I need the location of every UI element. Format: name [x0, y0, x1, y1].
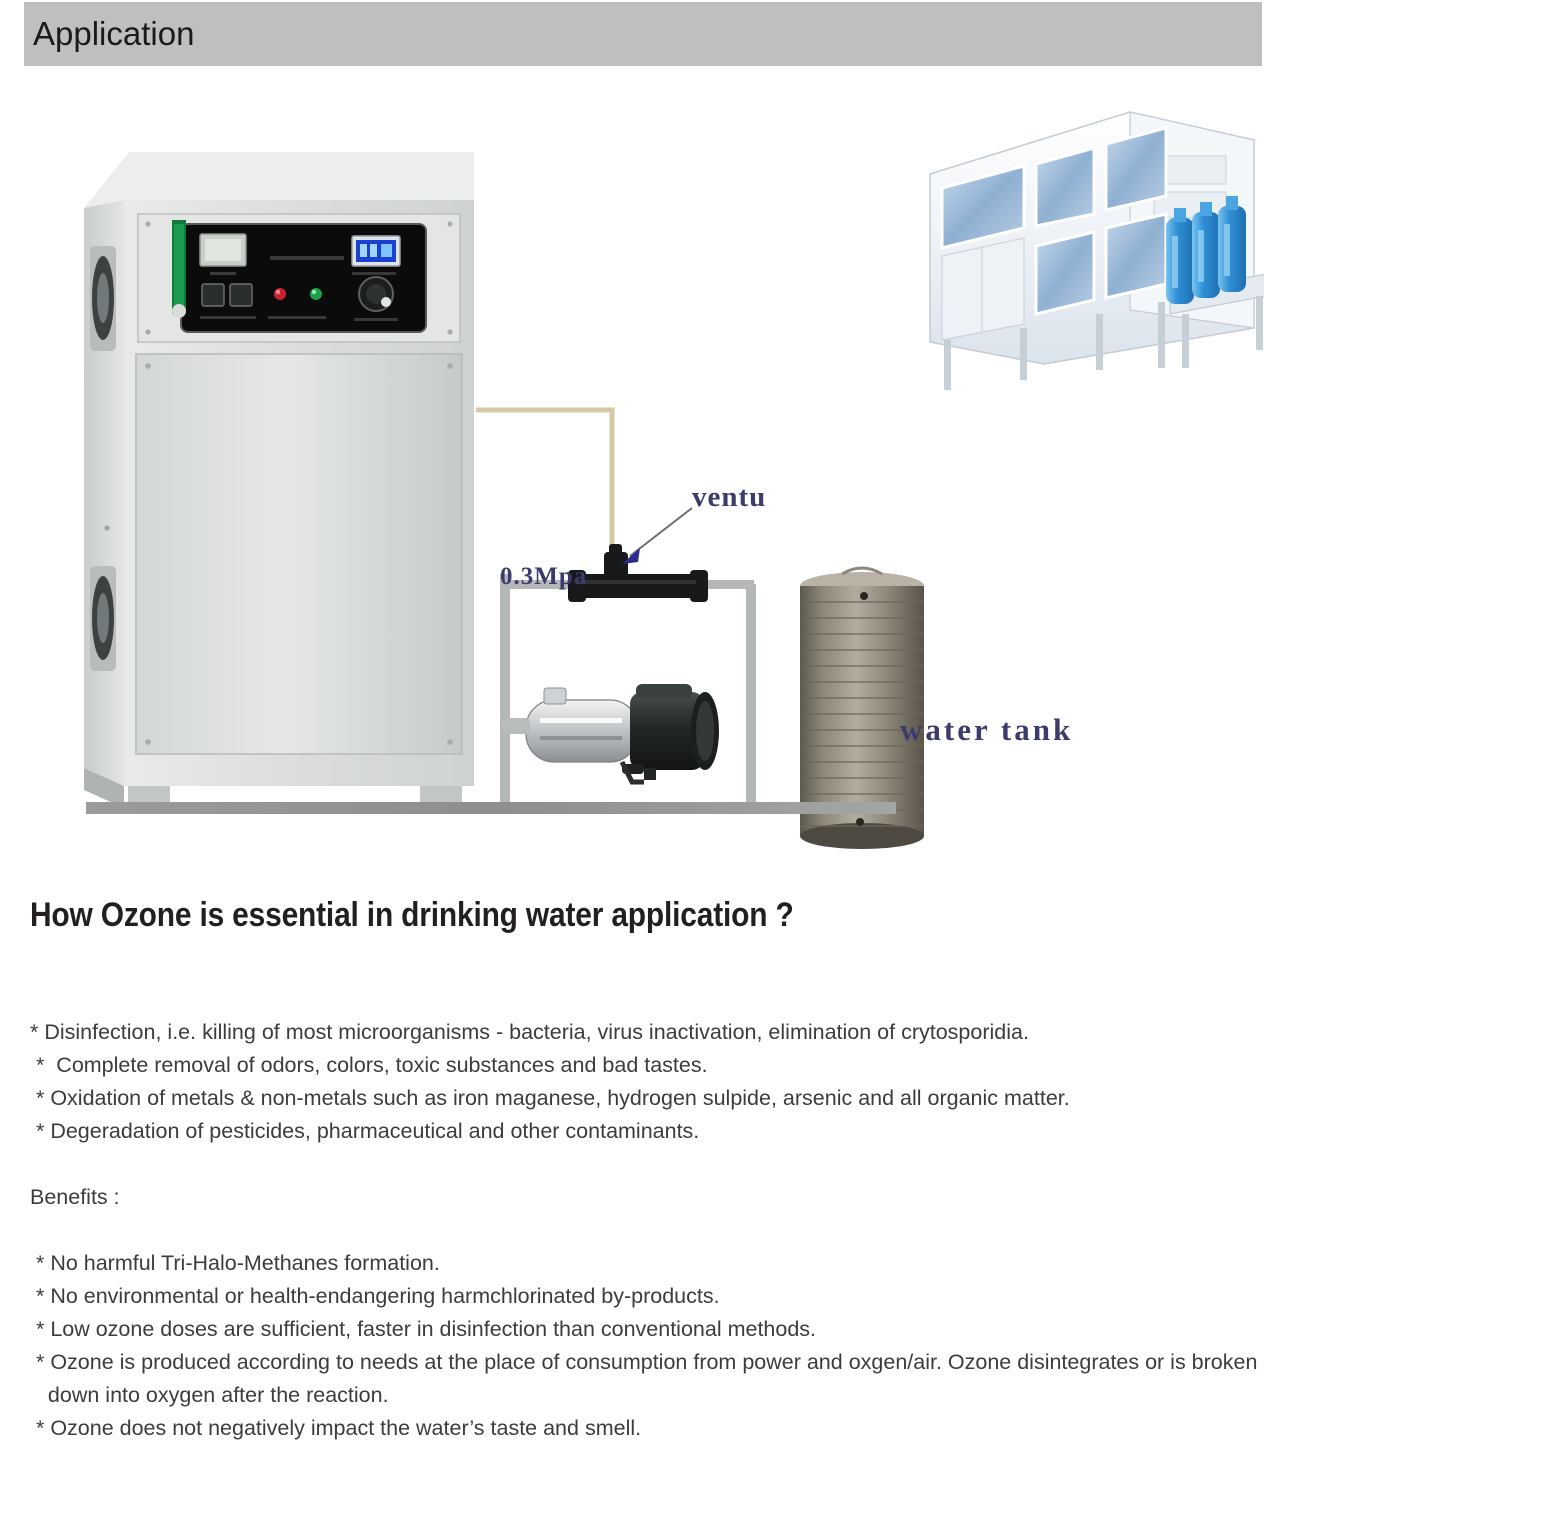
benefit-thm: * No harmful Tri-Halo-Methanes formation…	[30, 1247, 1330, 1280]
benefit-onsite: * Ozone is produced according to needs a…	[30, 1346, 1330, 1379]
benefits-label: Benefits :	[30, 1181, 1330, 1214]
benefit-taste: * Ozone does not negatively impact the w…	[30, 1412, 1330, 1445]
bullet-removal: * Complete removal of odors, colors, tox…	[30, 1049, 1330, 1082]
venturi-leader-line	[622, 508, 692, 564]
water-pump	[502, 684, 719, 782]
benefit-low-doses: * Low ozone doses are sufficient, faster…	[30, 1313, 1330, 1346]
spacer-2	[30, 1214, 1330, 1247]
control-panel	[172, 220, 426, 332]
ozone-generator-cabinet	[84, 152, 474, 808]
system-diagram-svg: 0.3Mpa ventu water tank	[24, 96, 1264, 876]
label-water-tank: water tank	[900, 712, 1073, 747]
page-header-bar: Application	[24, 2, 1262, 66]
spacer-1	[30, 1148, 1330, 1181]
label-venturi: ventu	[692, 481, 766, 513]
water-bottles	[1166, 196, 1246, 304]
label-pressure: 0.3Mpa	[500, 563, 587, 590]
page-title: Application	[24, 17, 194, 50]
body-copy: * Disinfection, i.e. killing of most mic…	[30, 1016, 1330, 1445]
section-heading: How Ozone is essential in drinking water…	[30, 896, 794, 935]
ozone-delivery-tube	[476, 410, 612, 568]
benefit-no-byproducts: * No environmental or health-endangering…	[30, 1280, 1330, 1313]
floor-line	[86, 802, 896, 814]
benefit-onsite-cont: down into oxygen after the reaction.	[30, 1379, 1330, 1412]
system-diagram-image: 0.3Mpa ventu water tank	[24, 96, 1264, 876]
bullet-degradation: * Degeradation of pesticides, pharmaceut…	[30, 1115, 1330, 1148]
bullet-disinfection: * Disinfection, i.e. killing of most mic…	[30, 1016, 1330, 1049]
bullet-oxidation: * Oxidation of metals & non-metals such …	[30, 1082, 1330, 1115]
